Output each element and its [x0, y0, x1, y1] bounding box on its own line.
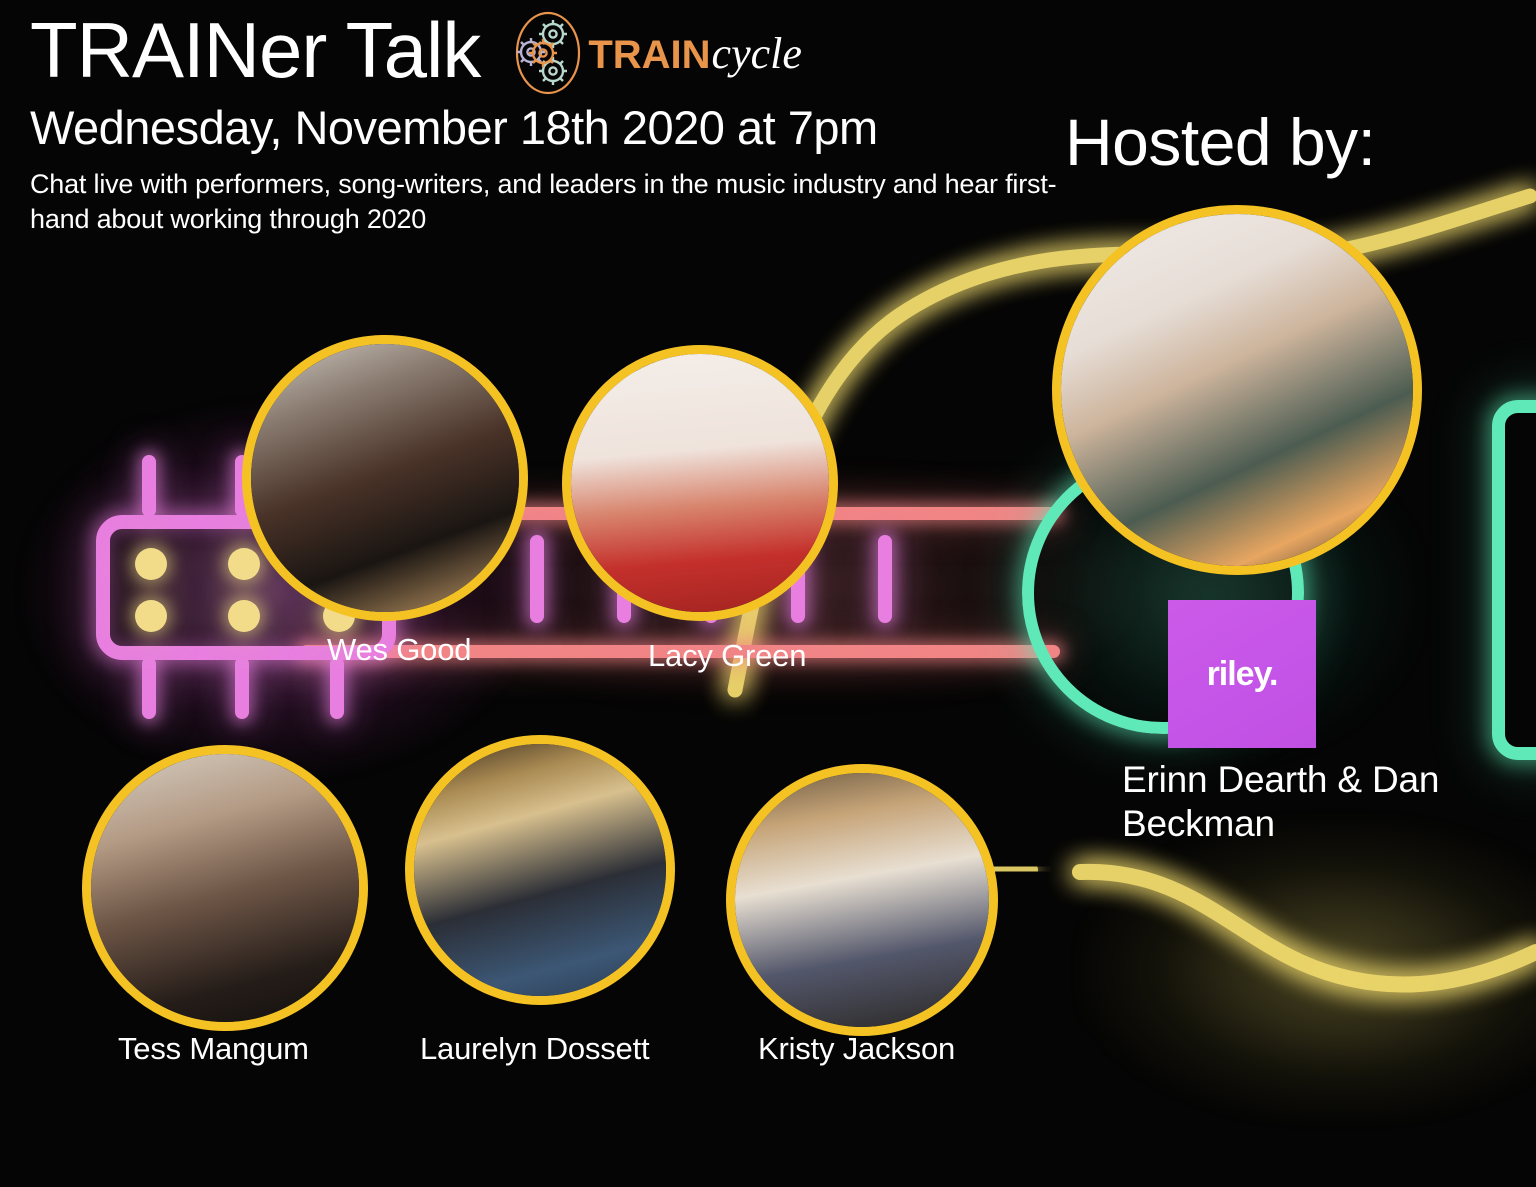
hosted-by-heading: Hosted by: [1065, 104, 1376, 180]
wes-good-photo [251, 344, 519, 612]
tuning-peg-dot-3 [135, 600, 167, 632]
riley-brand-text: riley. [1207, 655, 1278, 694]
laurelyn-dossett-photo [414, 744, 666, 996]
avatar-hosts[interactable] [1052, 205, 1422, 575]
caption-lacy-green: Lacy Green [648, 638, 806, 674]
caption-wes-good: Wes Good [327, 632, 471, 668]
tess-mangum-photo [91, 754, 359, 1022]
logo-wordmark: TRAIN cycle [588, 28, 802, 79]
neon-mint-rounded-rect [1492, 400, 1536, 760]
caption-hosts: Erinn Dearth & Dan Beckman [1122, 758, 1452, 845]
tuning-peg-stem-top-1 [142, 455, 156, 517]
logo-cycle-text: cycle [712, 28, 802, 79]
tuning-peg-dot-1 [135, 548, 167, 580]
avatar-kristy-jackson[interactable] [726, 764, 998, 1036]
kristy-jackson-photo [735, 773, 989, 1027]
avatar-tess-mangum[interactable] [82, 745, 368, 1031]
event-description: Chat live with performers, song-writers,… [30, 167, 1065, 237]
caption-laurelyn-dossett: Laurelyn Dossett [420, 1031, 649, 1067]
logo-train-text: TRAIN [588, 33, 710, 78]
event-date-time: Wednesday, November 18th 2020 at 7pm [30, 100, 1090, 155]
caption-tess-mangum: Tess Mangum [118, 1031, 309, 1067]
avatar-laurelyn-dossett[interactable] [405, 735, 675, 1005]
poster-canvas: TRAINer Talk [0, 0, 1536, 1187]
neon-fret-5 [878, 535, 892, 623]
tuning-peg-stem-bottom-1 [142, 657, 156, 719]
avatar-lacy-green[interactable] [562, 345, 838, 621]
caption-kristy-jackson: Kristy Jackson [758, 1031, 955, 1067]
avatar-wes-good[interactable] [242, 335, 528, 621]
hosts-photo [1061, 214, 1413, 566]
title-row: TRAINer Talk [30, 4, 1090, 96]
lacy-green-photo [571, 354, 829, 612]
header-block: TRAINer Talk [30, 4, 1090, 237]
traincycle-logo: TRAIN cycle [512, 10, 802, 96]
page-title: TRAINer Talk [30, 11, 480, 89]
riley-brand-badge[interactable]: riley. [1168, 600, 1316, 748]
tuning-peg-stem-bottom-2 [235, 657, 249, 719]
gears-in-circle-icon [512, 10, 584, 96]
neon-fret-1 [530, 535, 544, 623]
